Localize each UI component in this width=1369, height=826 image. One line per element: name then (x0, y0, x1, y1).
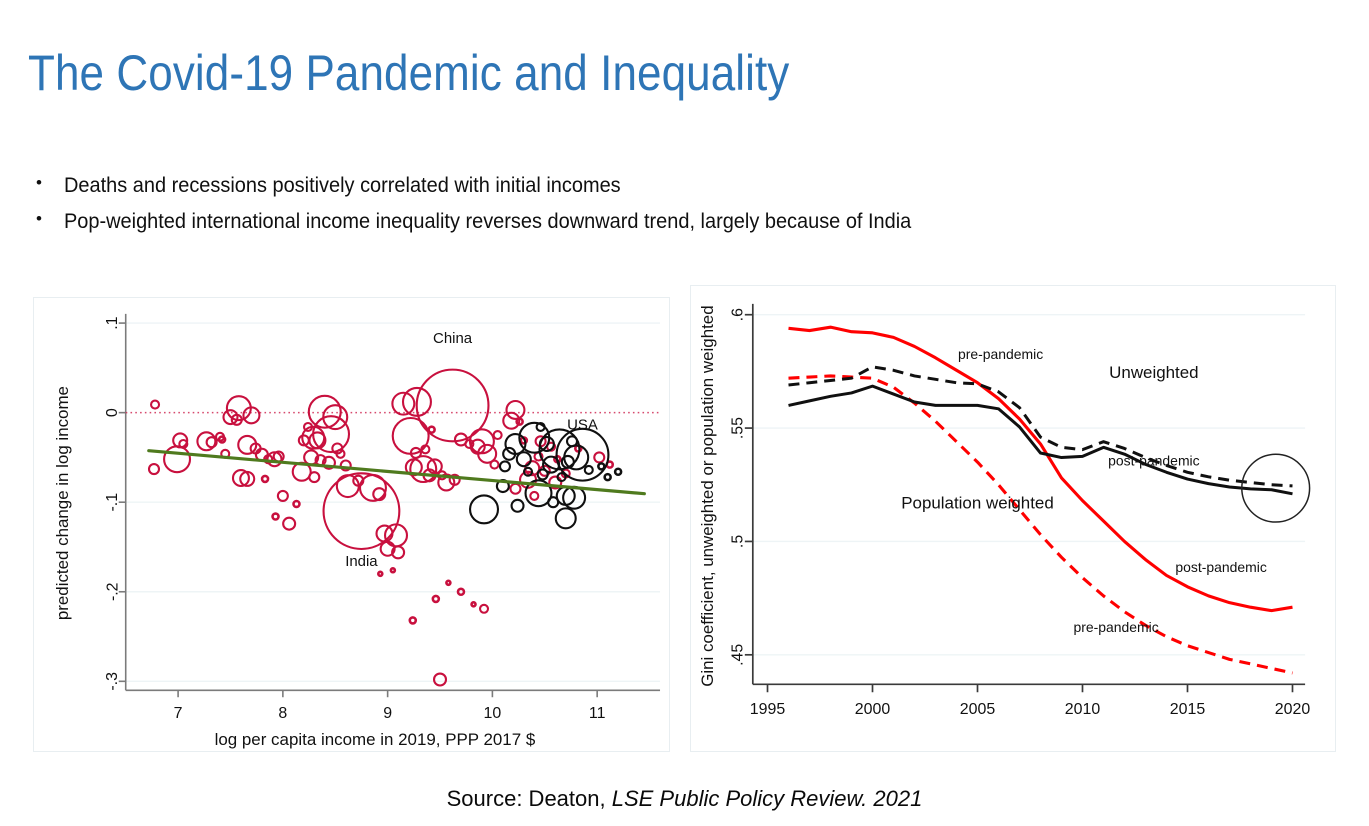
x-axis-tick-label: 1995 (750, 701, 786, 718)
bubble-point (164, 446, 190, 472)
bubble-point (337, 475, 359, 497)
bubble-point (309, 472, 319, 482)
source-caption: Source: Deaton, LSE Public Policy Review… (0, 786, 1369, 812)
bubble-point (149, 464, 159, 474)
y-axis-tick-label: .55 (729, 417, 746, 439)
series-annotation-label: Population weighted (901, 494, 1054, 513)
bubble-point (313, 416, 349, 452)
bubble-point (480, 605, 488, 613)
x-axis-tick-label: 2020 (1275, 701, 1311, 718)
bubble-point (598, 463, 604, 469)
series-annotation-label: post-pandemic (1108, 452, 1200, 468)
bubble-point (378, 572, 382, 576)
bubble-point (510, 484, 520, 494)
scatter-chart-panel: .10-.1-.2-.37891011predicted change in l… (33, 297, 670, 752)
bubble-points-group (149, 370, 621, 686)
bubble-point (530, 492, 538, 500)
y-axis-tick-label: .5 (729, 535, 746, 548)
bubble-point (293, 501, 299, 507)
x-axis-tick-label: 2015 (1170, 701, 1206, 718)
list-item: • Deaths and recessions positively corre… (30, 172, 1330, 200)
bubble-point (556, 508, 576, 528)
y-axis-title: predicted change in log income (53, 386, 72, 620)
gini-series-line (789, 367, 1293, 486)
bullet-marker-icon: • (30, 208, 64, 231)
x-axis-tick-label: 8 (278, 705, 287, 722)
scatter-chart-svg: .10-.1-.2-.37891011predicted change in l… (34, 298, 669, 751)
gini-line-chart-svg: .6.55.5.45199520002005201020152020Gini c… (691, 286, 1335, 751)
x-axis-tick-label: 7 (174, 705, 183, 722)
source-prefix: Source: Deaton, (447, 786, 612, 811)
series-annotation-label: Unweighted (1109, 363, 1198, 382)
bubble-point (446, 581, 450, 585)
series-annotation-label: post-pandemic (1175, 559, 1267, 575)
bubble-point (594, 452, 604, 462)
bullet-marker-icon: • (30, 172, 64, 195)
bubble-point (151, 401, 159, 409)
y-axis-tick-label: -.3 (104, 672, 121, 691)
x-axis-tick-label: 2010 (1065, 701, 1101, 718)
bubble-point (506, 401, 524, 419)
list-item: • Pop-weighted international income ineq… (30, 208, 1330, 236)
series-annotation-label: pre-pandemic (958, 346, 1043, 362)
series-annotation-label: pre-pandemic (1073, 619, 1158, 635)
x-axis-tick-label: 9 (383, 705, 392, 722)
x-axis-tick-label: 2000 (855, 701, 891, 718)
bubble-point (585, 466, 593, 474)
slide-canvas: The Covid-19 Pandemic and Inequality • D… (0, 0, 1369, 826)
bullet-text: Pop-weighted international income inequa… (64, 208, 911, 236)
y-axis-tick-label: -.2 (104, 582, 121, 601)
country-annotation-label: India (345, 553, 378, 570)
page-title: The Covid-19 Pandemic and Inequality (28, 47, 789, 100)
bubble-point (429, 427, 435, 433)
x-axis-tick-label: 2005 (960, 701, 996, 718)
bubble-point (391, 568, 395, 572)
bubble-point (433, 596, 439, 602)
bullet-text: Deaths and recessions positively correla… (64, 172, 621, 200)
bubble-point (517, 452, 531, 466)
bubble-point (494, 431, 502, 439)
x-axis-tick-label: 10 (484, 705, 502, 722)
bubble-point (434, 674, 446, 686)
gini-series-line (789, 386, 1293, 494)
x-axis-title: log per capita income in 2019, PPP 2017 … (215, 730, 536, 749)
y-axis-tick-label: .6 (729, 308, 746, 321)
bubble-point (273, 514, 279, 520)
bubble-point (278, 491, 288, 501)
gini-line-chart-panel: .6.55.5.45199520002005201020152020Gini c… (690, 285, 1336, 752)
bubble-point (491, 461, 499, 469)
y-axis-tick-label: .1 (104, 316, 121, 329)
bubble-point (283, 518, 295, 530)
y-axis-tick-label: .45 (729, 644, 746, 666)
bubble-point (393, 418, 429, 454)
source-journal: LSE Public Policy Review. 2021 (612, 786, 923, 811)
bubble-point (615, 469, 621, 475)
y-axis-tick-label: 0 (104, 408, 121, 417)
country-annotation-label: USA (567, 417, 598, 434)
bubble-point (470, 495, 498, 523)
bubble-point (500, 461, 510, 471)
bubble-point (262, 476, 268, 482)
bubble-point (605, 474, 611, 480)
y-axis-tick-label: -.1 (104, 493, 121, 512)
gini-series-line (789, 376, 1293, 673)
bubble-point (410, 617, 416, 623)
y-axis-title: Gini coefficient, unweighted or populati… (698, 305, 717, 686)
bullet-list: • Deaths and recessions positively corre… (30, 172, 1330, 245)
bubble-point (472, 602, 476, 606)
country-annotation-label: China (433, 330, 473, 347)
x-axis-tick-label: 11 (589, 705, 606, 722)
